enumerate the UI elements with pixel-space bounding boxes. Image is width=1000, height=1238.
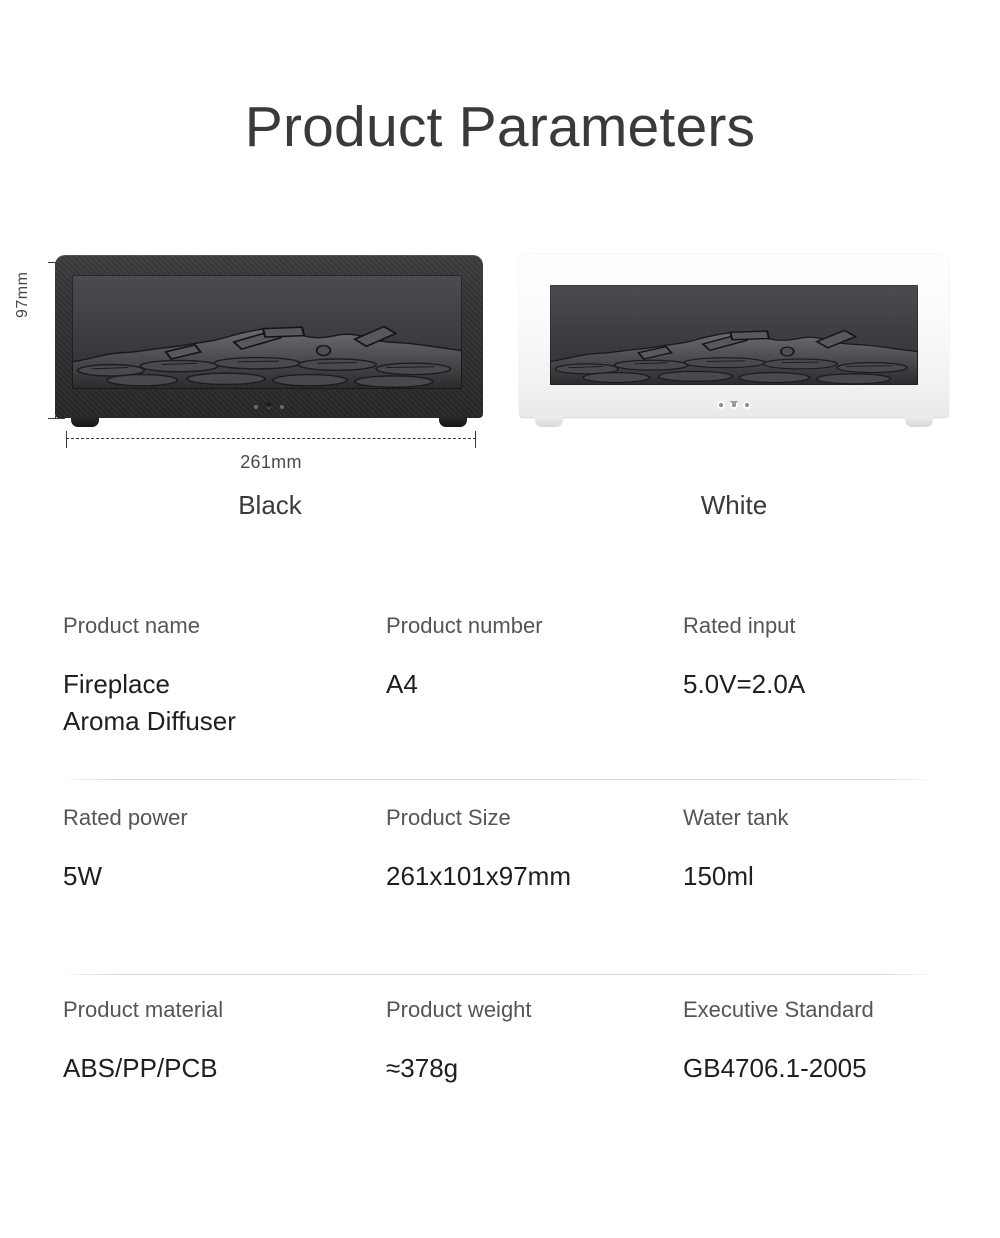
spec-cell-product-material: Product material ABS/PP/PCB xyxy=(63,996,383,1087)
variant-caption-white: White xyxy=(614,490,854,521)
width-dimension-label: 261mm xyxy=(66,452,476,473)
spec-label: Product Size xyxy=(386,804,676,833)
product-image-white xyxy=(519,254,949,418)
spec-cell-product-name: Product name FireplaceAroma Diffuser xyxy=(63,612,383,739)
spec-cell-water-tank: Water tank 150ml xyxy=(683,804,963,895)
foot-left xyxy=(535,416,563,427)
mist-button-dot[interactable] xyxy=(745,403,749,407)
spec-label: Product name xyxy=(63,612,383,641)
control-buttons-black[interactable] xyxy=(254,405,284,409)
log-pile-icon xyxy=(550,323,918,385)
page-title: Product Parameters xyxy=(0,98,1000,158)
spec-value: ≈378g xyxy=(386,1050,676,1087)
spec-value: ABS/PP/PCB xyxy=(63,1050,383,1087)
flame-window-white xyxy=(550,285,918,385)
height-dimension-label: 97mm xyxy=(14,272,32,318)
spec-value: GB4706.1-2005 xyxy=(683,1050,963,1087)
row-divider xyxy=(70,779,926,780)
spec-value: 5.0V=2.0A xyxy=(683,666,963,703)
spec-label: Product material xyxy=(63,996,383,1025)
spec-label: Product weight xyxy=(386,996,676,1025)
spec-value: FireplaceAroma Diffuser xyxy=(63,666,383,740)
spec-label: Executive Standard xyxy=(683,996,963,1025)
spec-value: 5W xyxy=(63,858,383,895)
spec-label: Water tank xyxy=(683,804,963,833)
control-buttons-white[interactable] xyxy=(719,403,749,407)
spec-label: Rated power xyxy=(63,804,383,833)
row-divider xyxy=(70,974,926,975)
spec-value: 150ml xyxy=(683,858,963,895)
foot-right xyxy=(439,416,467,427)
foot-left xyxy=(71,416,99,427)
power-button-dot[interactable] xyxy=(254,405,258,409)
mist-outlet-icon xyxy=(265,403,273,408)
spec-value: 261x101x97mm xyxy=(386,858,676,895)
spec-cell-product-weight: Product weight ≈378g xyxy=(386,996,676,1087)
log-pile-icon xyxy=(72,318,462,389)
spec-cell-product-number: Product number A4 xyxy=(386,612,676,703)
product-parameters-page: Product Parameters 97mm 261mm xyxy=(0,0,1000,1238)
spec-table: Product name FireplaceAroma Diffuser Pro… xyxy=(0,612,1000,1188)
product-image-black xyxy=(55,255,483,418)
foot-right xyxy=(905,416,933,427)
spec-value: A4 xyxy=(386,666,676,703)
power-button-dot[interactable] xyxy=(719,403,723,407)
mist-outlet-icon xyxy=(730,401,738,406)
spec-row: Rated power 5W Product Size 261x101x97mm… xyxy=(0,804,1000,996)
flame-window-black xyxy=(72,275,462,389)
spec-row: Product name FireplaceAroma Diffuser Pro… xyxy=(0,612,1000,804)
spec-label: Product number xyxy=(386,612,676,641)
spec-label: Rated input xyxy=(683,612,963,641)
spec-cell-product-size: Product Size 261x101x97mm xyxy=(386,804,676,895)
spec-cell-rated-input: Rated input 5.0V=2.0A xyxy=(683,612,963,703)
spec-row: Product material ABS/PP/PCB Product weig… xyxy=(0,996,1000,1188)
width-dimension-line xyxy=(66,438,476,439)
spec-cell-rated-power: Rated power 5W xyxy=(63,804,383,895)
variant-caption-black: Black xyxy=(150,490,390,521)
spec-cell-executive-standard: Executive Standard GB4706.1-2005 xyxy=(683,996,963,1087)
mist-button-dot[interactable] xyxy=(280,405,284,409)
